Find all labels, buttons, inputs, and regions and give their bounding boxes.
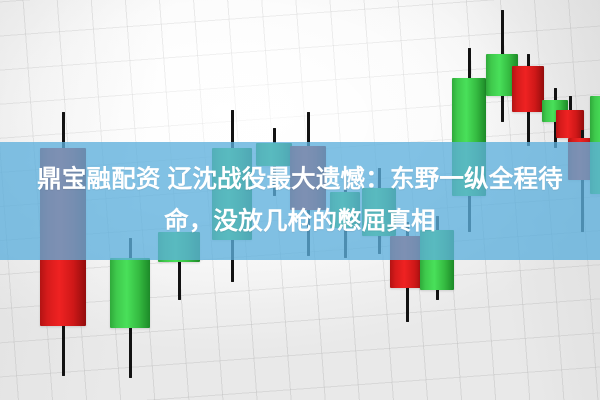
candlestick-body-down [556,110,584,138]
candlestick-body-up [110,258,150,328]
headline-line-1: 鼎宝融配资 辽沈战役最大遗憾：东野一纵全程待 [0,159,600,201]
headline-line-2: 命，没放几枪的憋屈真相 [0,201,600,243]
candlestick-body-down [512,66,544,112]
banner-image: 鼎宝融配资 辽沈战役最大遗憾：东野一纵全程待 命，没放几枪的憋屈真相 [0,0,600,400]
candlestick-body-down [390,236,424,288]
headline-text: 鼎宝融配资 辽沈战役最大遗憾：东野一纵全程待 命，没放几枪的憋屈真相 [0,159,600,243]
